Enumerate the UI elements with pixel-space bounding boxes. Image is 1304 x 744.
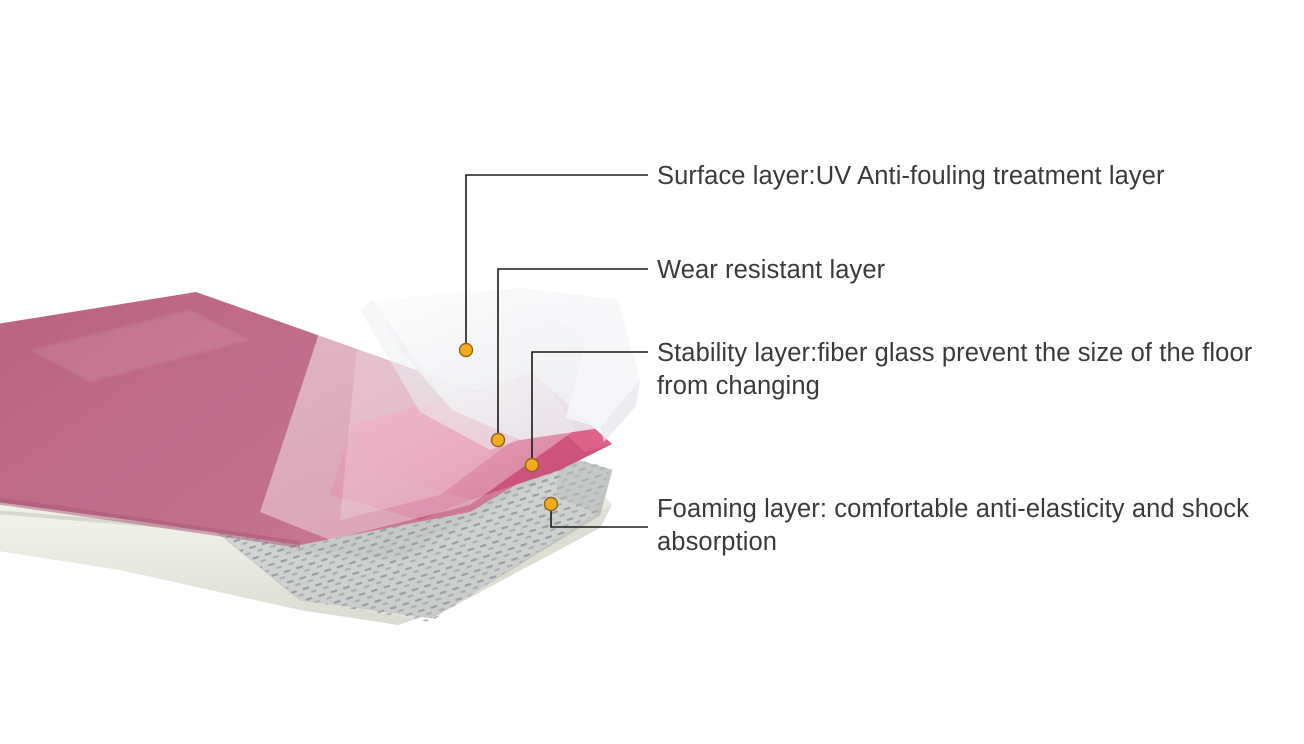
callout-label-surface: Surface layer:UV Anti-fouling treatment …: [657, 160, 1257, 193]
callout-label-wear: Wear resistant layer: [657, 254, 1257, 287]
callout-label-stability: Stability layer:fiber glass prevent the …: [657, 337, 1253, 403]
diagram-canvas: Surface layer:UV Anti-fouling treatment …: [0, 0, 1304, 744]
callout-label-foaming: Foaming layer: comfortable anti-elastici…: [657, 493, 1253, 559]
